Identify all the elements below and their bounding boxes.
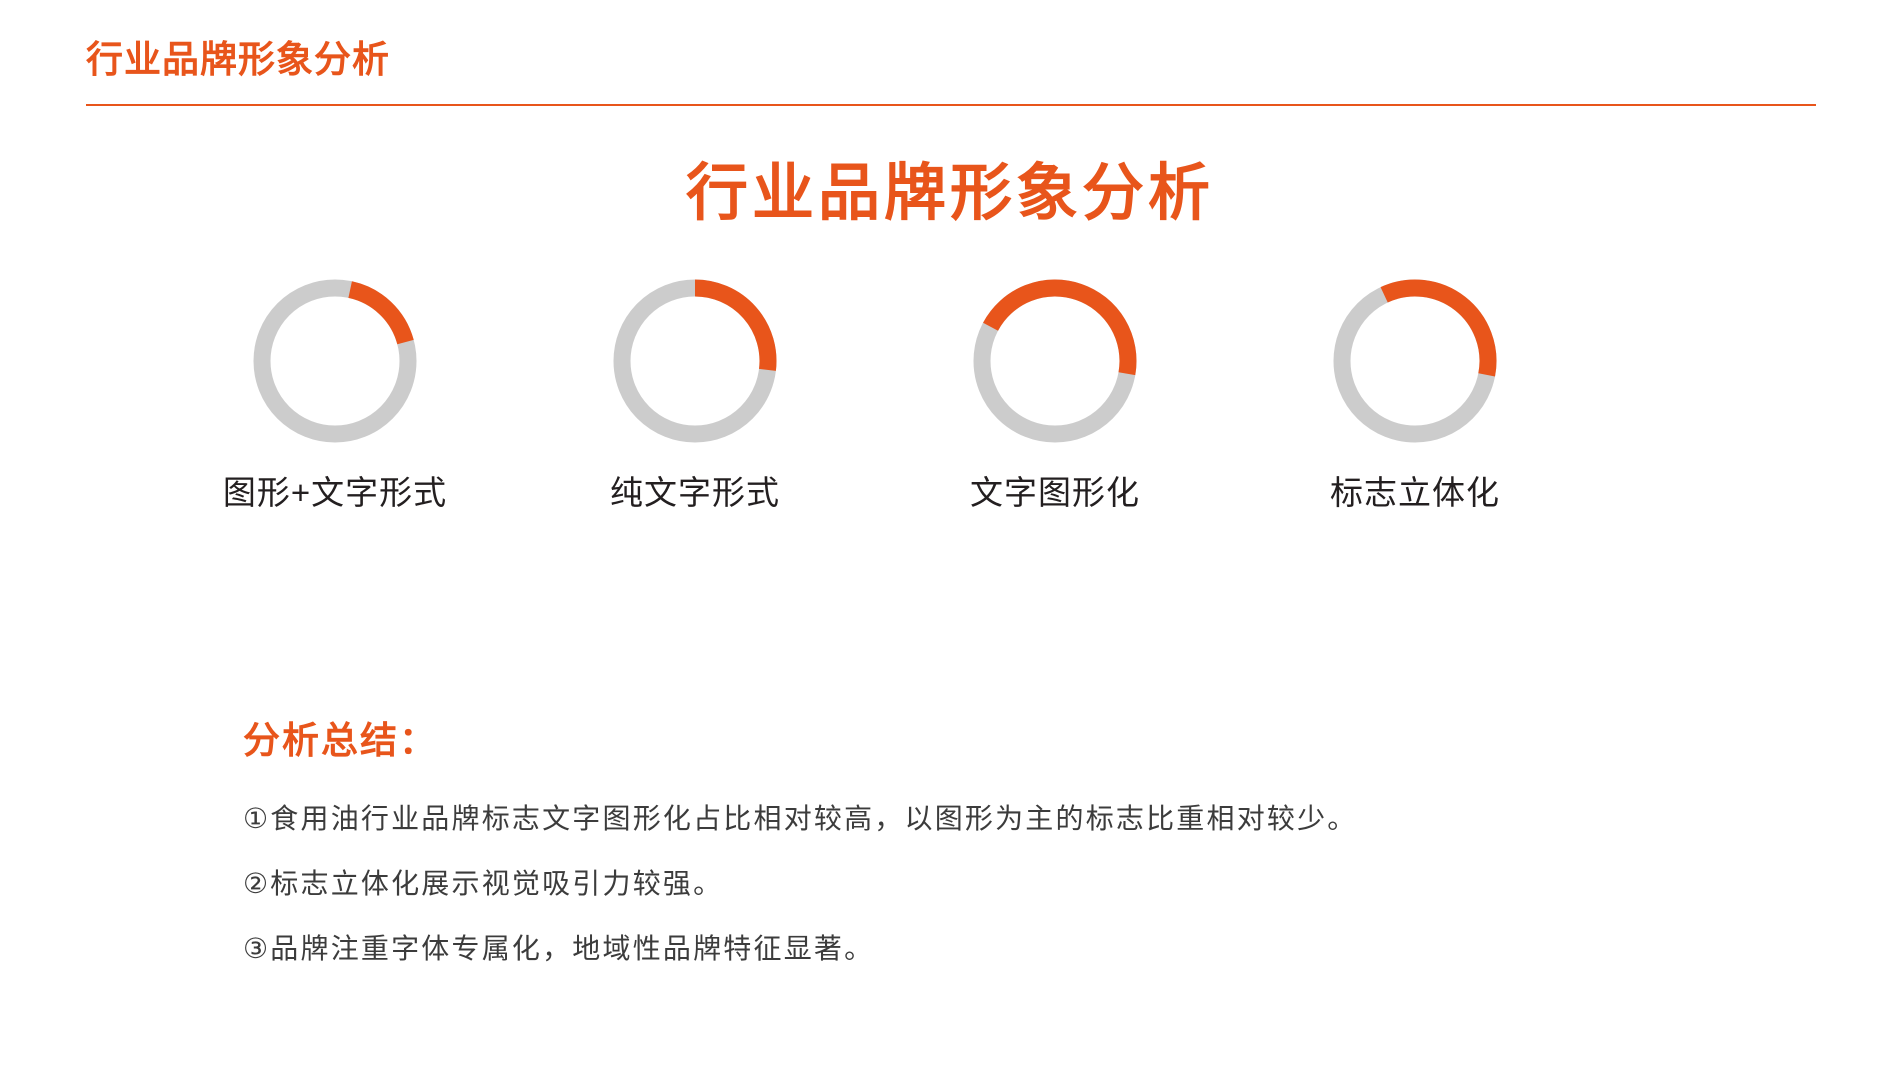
donut-svg-3 (1329, 275, 1501, 447)
donut-chart-0 (249, 275, 421, 447)
donut-chart-3 (1329, 275, 1501, 447)
donut-item-1: 纯文字形式 (515, 275, 875, 511)
header-divider (86, 104, 1816, 106)
donut-svg-1 (609, 275, 781, 447)
donut-arc-3 (1384, 288, 1488, 375)
donut-label-3: 标志立体化 (1330, 475, 1500, 511)
donut-item-0: 图形+文字形式 (155, 275, 515, 511)
summary-line-1: ①食用油行业品牌标志文字图形化占比相对较高，以图形为主的标志比重相对较少。 (243, 805, 1693, 833)
summary-heading: 分析总结： (243, 722, 1693, 759)
slide-root: 行业品牌形象分析 行业品牌形象分析 图形+文字形式 纯文字形式 (0, 0, 1900, 1069)
header-title: 行业品牌形象分析 (86, 41, 390, 78)
donut-chart-2 (969, 275, 1141, 447)
summary-line-3: ③品牌注重字体专属化，地域性品牌特征显著。 (243, 935, 1693, 963)
analysis-summary: 分析总结： ①食用油行业品牌标志文字图形化占比相对较高，以图形为主的标志比重相对… (243, 722, 1693, 963)
donut-label-1: 纯文字形式 (610, 475, 780, 511)
donut-arc-2 (991, 288, 1128, 374)
donut-label-0: 图形+文字形式 (223, 475, 447, 511)
slide-header: 行业品牌形象分析 (0, 0, 1900, 130)
summary-line-2: ②标志立体化展示视觉吸引力较强。 (243, 870, 1693, 898)
donut-svg-0 (249, 275, 421, 447)
donut-label-2: 文字图形化 (970, 475, 1140, 511)
donut-arc-0 (350, 290, 405, 343)
page-title: 行业品牌形象分析 (0, 160, 1900, 228)
donut-item-3: 标志立体化 (1235, 275, 1595, 511)
donut-arc-1 (695, 288, 768, 370)
donut-chart-1 (609, 275, 781, 447)
donut-svg-2 (969, 275, 1141, 447)
donut-item-2: 文字图形化 (875, 275, 1235, 511)
donut-chart-row: 图形+文字形式 纯文字形式 文字图形化 (155, 275, 1595, 605)
